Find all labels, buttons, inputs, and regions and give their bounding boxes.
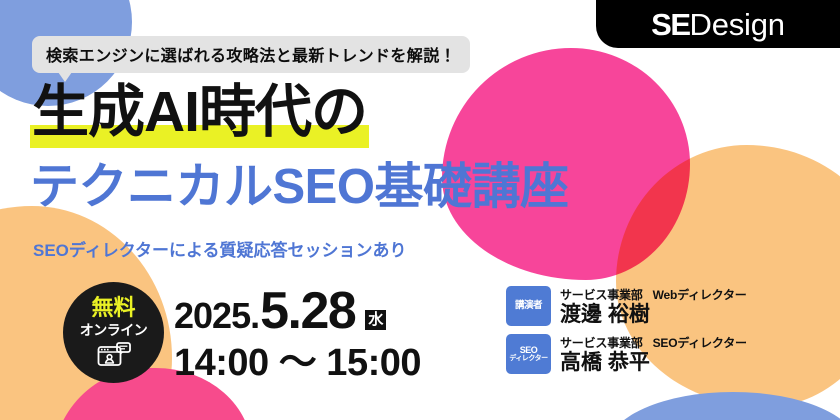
event-date-row: 2025 . 5.28 水 [174,285,421,337]
event-time: 14:00 ～ 15:00 [174,344,421,382]
speaker-info: サービス事業部SEOディレクター 高橋 恭平 [560,334,747,374]
speaker-role-badge: 講演者 [506,286,551,326]
speaker-department: サービス事業部 [560,288,643,302]
logo-design-text: Design [690,7,785,42]
speaker-info: サービス事業部Webディレクター 渡邊 裕樹 [560,286,747,326]
logo-text: SEDesign [651,9,785,40]
speaker-item: SEO ディレクター サービス事業部SEOディレクター 高橋 恭平 [506,334,747,374]
webinar-banner: SEDesign 検索エンジンに選ばれる攻略法と最新トレンドを解説！ 生成AI時… [0,0,840,420]
speaker-badge-line-2: ディレクター [509,355,547,363]
webinar-window-icon [97,342,131,368]
speaker-name: 高橋 恭平 [560,352,747,374]
speaker-badge-line-1: SEO [520,345,538,355]
title-line-1-highlight: 生成AI時代の [30,80,369,148]
speaker-item: 講演者 サービス事業部Webディレクター 渡邊 裕樹 [506,286,747,326]
speaker-department: サービス事業部 [560,336,643,350]
speaker-title: サービス事業部Webディレクター [560,286,747,303]
speaker-role: Webディレクター [653,288,747,302]
event-day-of-week: 水 [365,310,386,330]
sedesign-logo: SEDesign [596,0,840,48]
speaker-title: サービス事業部SEOディレクター [560,334,747,351]
speaker-role: SEOディレクター [653,336,747,350]
speaker-name: 渡邊 裕樹 [560,304,747,326]
free-online-badge: 無料 オンライン [63,282,164,383]
event-datetime: 2025 . 5.28 水 14:00 ～ 15:00 [174,285,421,382]
speaker-role-badge: SEO ディレクター [506,334,551,374]
event-month-day: 5.28 [260,285,355,337]
online-label: オンライン [80,323,148,337]
logo-se-text: SE [651,7,689,42]
blue-ellipse-bottom-right-shape [608,392,840,420]
lead-badge: 検索エンジンに選ばれる攻略法と最新トレンドを解説！ [32,36,470,73]
speaker-badge-line-1: 講演者 [515,301,542,312]
date-separator: . [250,298,260,334]
event-year: 2025 [174,298,250,334]
lead-badge-label: 検索エンジンに選ばれる攻略法と最新トレンドを解説！ [46,48,456,65]
subtitle-line: SEOディレクターによる質疑応答セッションあり [33,236,407,261]
title-line-1: 生成AI時代の [30,83,369,143]
free-label: 無料 [91,297,135,319]
title-line-2: テクニカルSEO基礎講座 [30,162,568,213]
speaker-list: 講演者 サービス事業部Webディレクター 渡邊 裕樹 SEO ディレクター サー… [506,286,747,374]
